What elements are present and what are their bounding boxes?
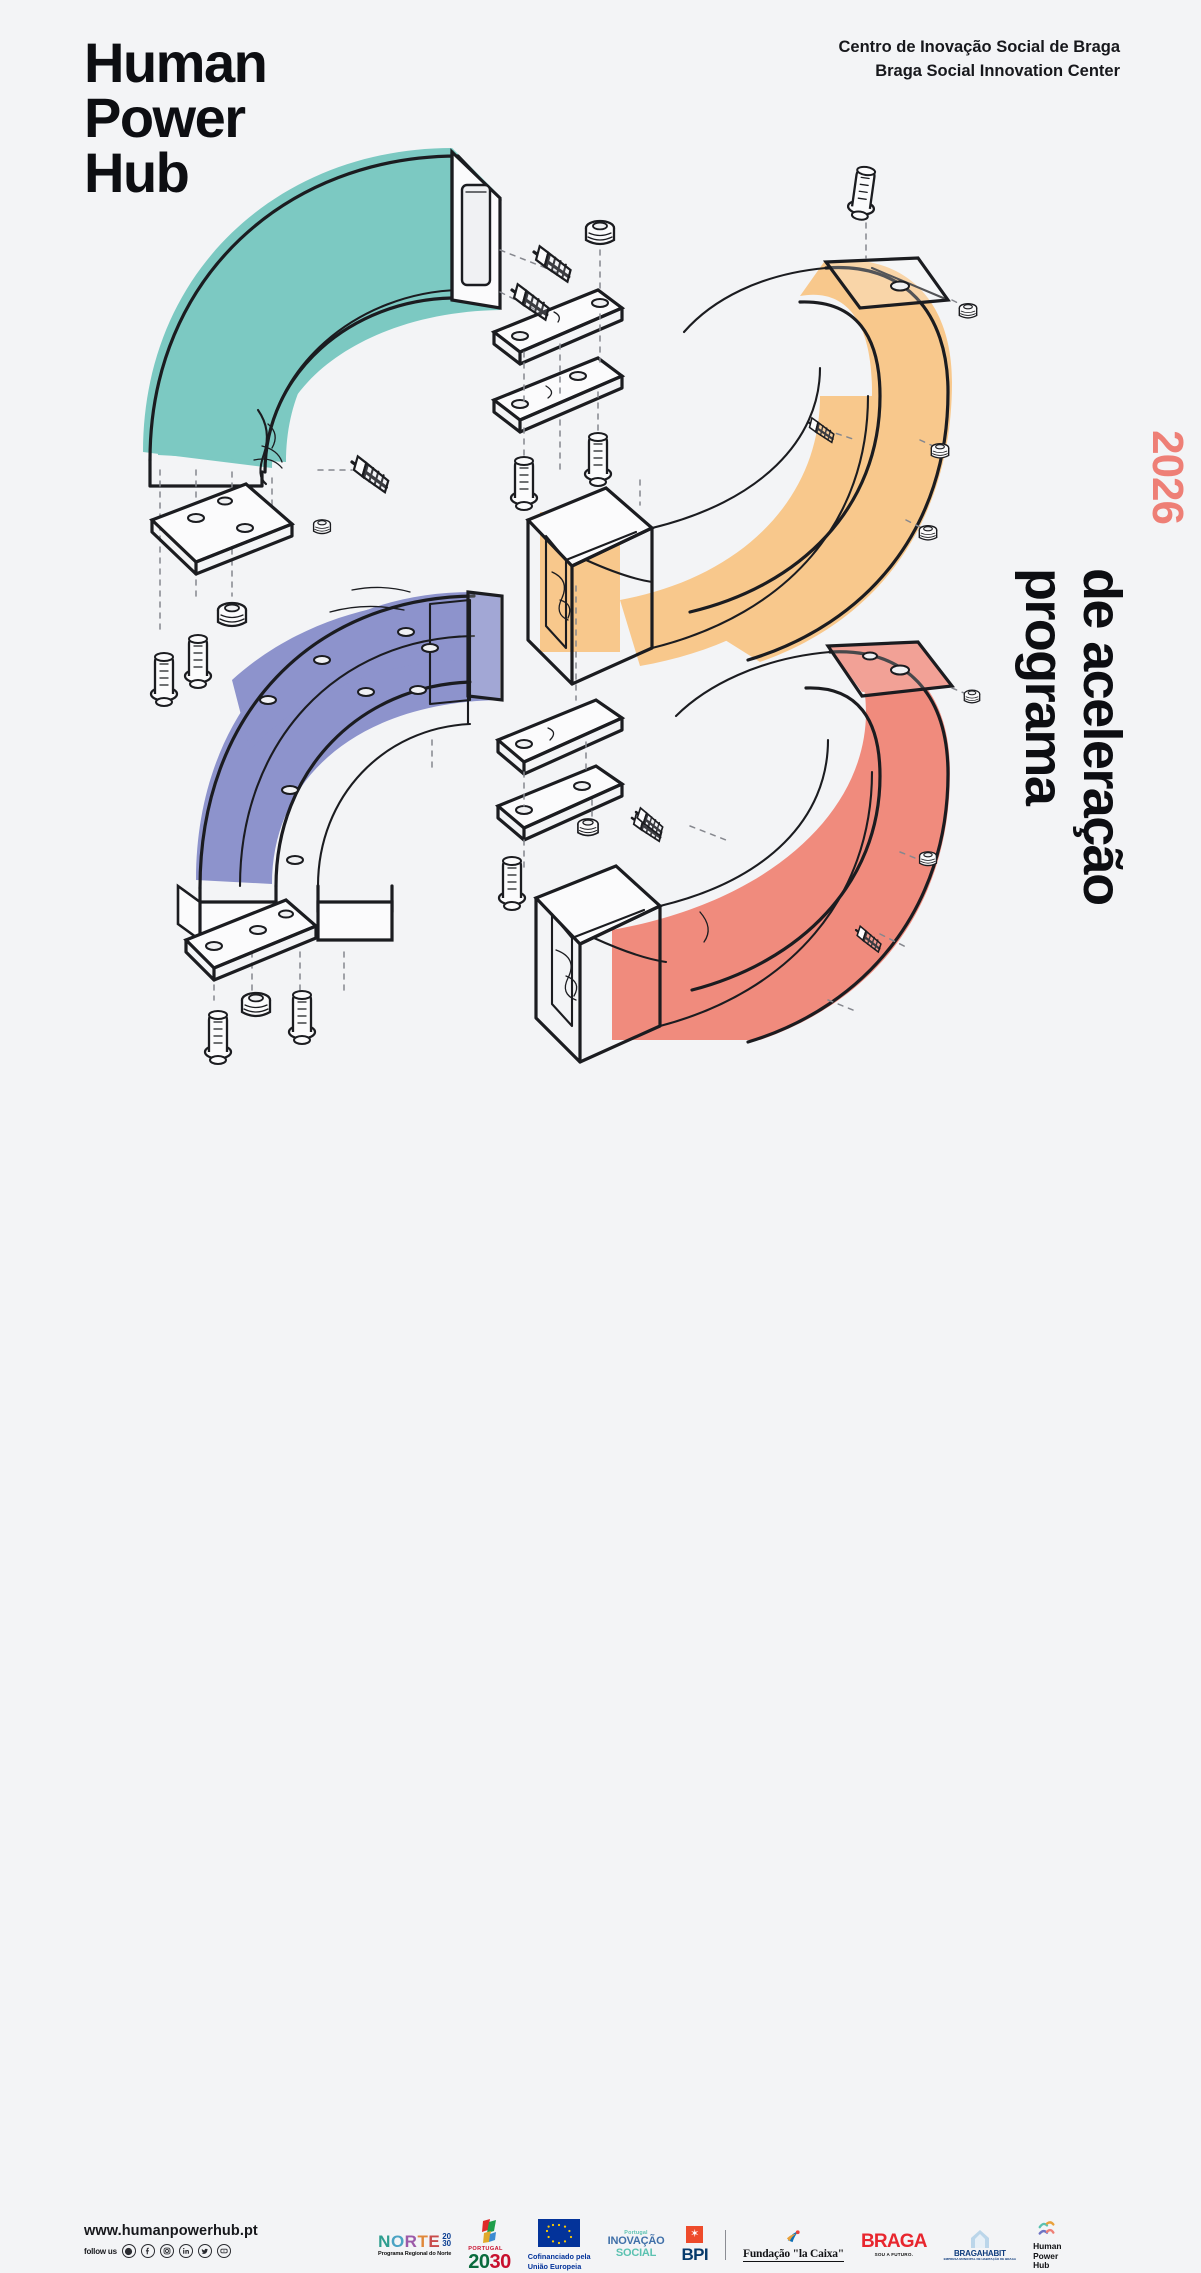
linkedin-icon[interactable] xyxy=(179,2244,193,2258)
logo-divider xyxy=(725,2230,726,2260)
portugal-inovacao-social-logo: Portugal INOVAÇÃO SOCIAL xyxy=(608,2231,665,2260)
follow-us-label: follow us xyxy=(84,2247,117,2256)
programme-year: 2026 xyxy=(1145,430,1189,524)
center-name-pt: Centro de Inovação Social de Braga xyxy=(839,36,1121,60)
partner-logos: NORTE 20 30 Programa Regional do Norte xyxy=(378,2217,1158,2273)
bragahabit-subtitle: EMPRESA MUNICIPAL DE HABITAÇÃO DE BRAGA xyxy=(944,2258,1016,2261)
website-url[interactable]: www.humanpowerhub.pt xyxy=(84,2223,258,2239)
programme-line-2: de aceleração xyxy=(1075,568,1129,904)
eu-cofinance-text: Cofinanciado pela União Europeia xyxy=(528,2252,591,2272)
social-links: follow us xyxy=(84,2244,231,2258)
bracket-plate-upper xyxy=(494,290,622,364)
eu-flag-icon xyxy=(538,2219,580,2247)
european-union-logo: Cofinanciado pela União Europeia xyxy=(528,2219,591,2272)
inovacao-social-line-2: SOCIAL xyxy=(616,2248,656,2260)
norte-2030-wordmark: NORTE xyxy=(378,2233,440,2250)
portugal-flag-icon xyxy=(481,2218,498,2244)
youtube-icon[interactable] xyxy=(217,2244,231,2258)
center-name: Centro de Inovação Social de Braga Braga… xyxy=(839,36,1121,84)
bragahabit-logo: BRAGAHABIT EMPRESA MUNICIPAL DE HABITAÇÃ… xyxy=(944,2229,1016,2262)
portugal-2030-logo: PORTUGAL 2030 xyxy=(468,2218,511,2273)
braga-wordmark: BRAGA xyxy=(861,2232,927,2251)
instagram-icon[interactable] xyxy=(160,2244,174,2258)
la-caixa-wordmark: Fundação "la Caixa" xyxy=(743,2248,844,2262)
arc-module-blue xyxy=(178,587,502,940)
human-power-hub-logo: Human Power Hub xyxy=(1033,2219,1061,2270)
globe-icon xyxy=(122,2244,136,2258)
twitter-icon[interactable] xyxy=(198,2244,212,2258)
braga-logo: BRAGA SOU A FUTURO. xyxy=(861,2232,927,2258)
la-caixa-star-icon xyxy=(785,2228,802,2245)
inovacao-social-line-1: INOVAÇÃO xyxy=(608,2236,665,2248)
fundacao-la-caixa-logo: Fundação "la Caixa" xyxy=(743,2228,844,2262)
bpi-star-icon: ✶ xyxy=(686,2226,703,2243)
programme-title-block: 2026 programa de aceleração xyxy=(1013,524,1145,1044)
bracket-plate-lower xyxy=(494,358,622,432)
braga-tagline: SOU A FUTURO. xyxy=(875,2253,914,2258)
bracket-plate-mid-upper xyxy=(498,700,622,774)
facebook-icon[interactable] xyxy=(141,2244,155,2258)
norte-2030-subtitle: Programa Regional do Norte xyxy=(378,2252,451,2258)
bpi-wordmark: BPI xyxy=(681,2245,708,2265)
poster-canvas: .ln { fill:none; stroke:#1b1c20; stroke-… xyxy=(0,0,1201,1201)
bpi-logo: ✶ BPI xyxy=(681,2226,708,2265)
hph-wordmark: Human Power Hub xyxy=(1033,2242,1061,2270)
house-icon xyxy=(969,2229,991,2249)
bracket-plate-mid-lower xyxy=(498,766,622,840)
portugal-2030-year: 2030 xyxy=(468,2252,511,2272)
center-name-en: Braga Social Innovation Center xyxy=(839,60,1121,84)
programme-line-1: programa xyxy=(1017,568,1071,804)
hph-swoosh-icon xyxy=(1037,2219,1057,2239)
norte-2030-logo: NORTE 20 30 Programa Regional do Norte xyxy=(378,2233,451,2258)
page-title: Human Power Hub xyxy=(84,36,266,201)
bragahabit-wordmark: BRAGAHABIT xyxy=(954,2250,1006,2258)
footer: www.humanpowerhub.pt follow us xyxy=(0,1091,1201,1201)
mounting-plate-teal xyxy=(152,484,292,574)
norte-2030-year: 20 30 xyxy=(442,2233,451,2248)
